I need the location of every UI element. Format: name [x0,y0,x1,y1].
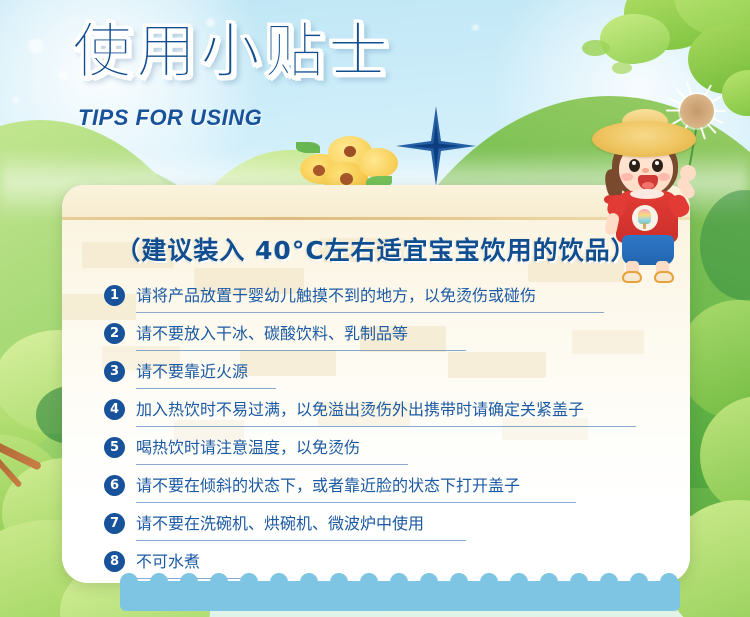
tip-text: 加入热饮时不易过满，以免溢出烫伤外出携带时请确定关紧盖子 [136,396,584,420]
sparkle-star-icon [394,104,478,188]
girl-shoe-left [622,271,642,283]
tip-number-badge: 4 [104,399,125,420]
tip-rule [136,350,466,351]
tips-list: 1 请将产品放置于婴幼儿触摸不到的地方，以免烫伤或碰伤 2 请不要放入干冰、碳酸… [104,277,666,583]
tip-text: 请将产品放置于婴幼儿触摸不到的地方，以免烫伤或碰伤 [136,282,536,306]
girl-eye-shine [632,161,636,165]
tip-rule [136,464,408,465]
tip-text: 请不要靠近火源 [136,358,248,382]
tip-rule [136,540,466,541]
tip-number-badge: 6 [104,475,125,496]
tip-number-badge: 7 [104,513,125,534]
tip-rule [136,312,604,313]
girl-nose [642,168,649,173]
popsicle-stick [643,223,646,229]
bokeh-dot [58,70,68,80]
list-item: 3 请不要靠近火源 [104,353,666,391]
tip-rule [136,502,576,503]
tip-number-badge: 8 [104,551,125,572]
tips-poster: 使用小贴士 TIPS FOR USING （建议装入 40°C左右适宜宝宝饮用的… [0,0,750,617]
tip-text: 喝热饮时请注意温度，以免烫伤 [136,434,360,458]
tip-number-badge: 5 [104,437,125,458]
bokeh-dot [12,96,20,104]
tip-number-badge: 1 [104,285,125,306]
list-item: 5 喝热饮时请注意温度，以免烫伤 [104,429,666,467]
tip-rule [136,426,636,427]
tip-text: 请不要在洗碗机、烘碗机、微波炉中使用 [136,510,424,534]
tip-rule [136,388,276,389]
list-item: 4 加入热饮时不易过满，以免溢出烫伤外出携带时请确定关紧盖子 [104,391,666,429]
tip-text: 请不要在倾斜的状态下，或者靠近脸的状态下打开盖子 [136,472,520,496]
list-item: 1 请将产品放置于婴幼儿触摸不到的地方，以免烫伤或碰伤 [104,277,666,315]
girl-shoe-right [654,271,674,283]
girl-cheek-left [621,173,633,181]
girl-cheek-right [658,173,670,181]
list-item: 6 请不要在倾斜的状态下，或者靠近脸的状态下打开盖子 [104,467,666,505]
list-item: 2 请不要放入干冰、碳酸饮料、乳制品等 [104,315,666,353]
girl-eye-shine [655,161,659,165]
tip-text: 不可水煮 [136,548,200,572]
page-title: 使用小贴士 [72,22,392,82]
girl-character [596,105,708,285]
bokeh-dot [28,38,44,54]
tip-text: 请不要放入干冰、碳酸饮料、乳制品等 [136,320,408,344]
popsicle-body [638,209,651,224]
list-item: 7 请不要在洗碗机、烘碗机、微波炉中使用 [104,505,666,543]
page-subtitle: TIPS FOR USING [78,105,262,131]
girl-tongue [642,182,654,189]
girl-hand [680,165,696,181]
tip-number-badge: 3 [104,361,125,382]
girl-straw-hat [592,121,696,157]
girl-collar [630,189,664,199]
tip-number-badge: 2 [104,323,125,344]
scallop-band [120,581,680,611]
